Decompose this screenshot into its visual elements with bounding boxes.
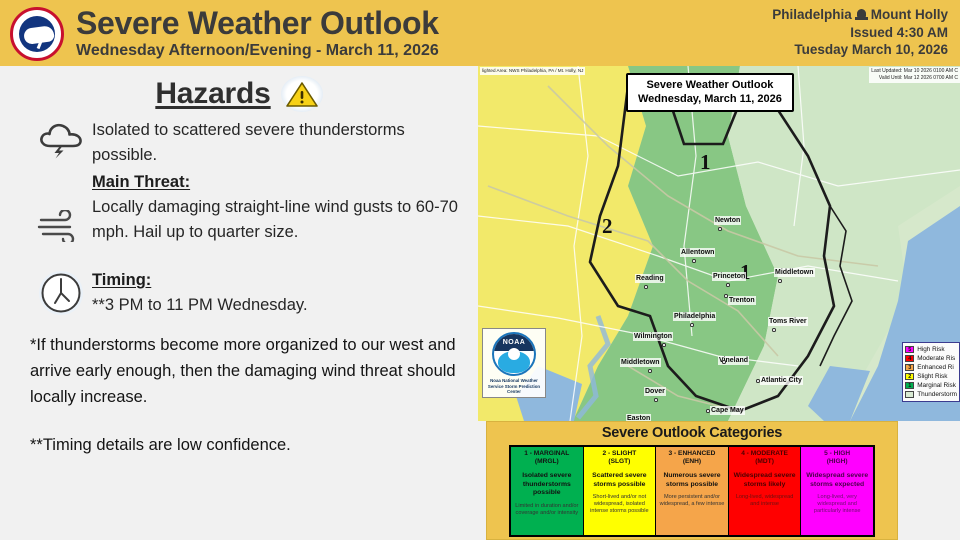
header-titles: Severe Weather Outlook Wednesday Afterno… <box>76 6 439 61</box>
liberty-bell-icon <box>855 8 868 21</box>
legend-row: 4 Moderate Ris <box>905 354 957 363</box>
map-update-info: Last Updated: Mar 10 2026 0100 AM C Vali… <box>869 67 960 83</box>
category-sub-text: More persistent and/or widespread, a few… <box>658 494 726 508</box>
category-head-line2: (ENH) <box>658 458 726 466</box>
footnote-one: *If thunderstorms become more organized … <box>30 332 460 410</box>
legend-label: Thunderstorm <box>917 391 957 398</box>
category-head-line2: (HIGH) <box>803 458 871 466</box>
nws-seal-icon <box>10 7 64 61</box>
category-head-line1: 5 - HIGH <box>803 450 871 458</box>
hazard-item-timing: Timing: **3 PM to 11 PM Wednesday. <box>30 245 478 318</box>
category-head-line2: (MRGL) <box>513 458 581 466</box>
city-dot <box>756 379 760 383</box>
category-moderate: 4 - MODERATE (MDT) Widespread severe sto… <box>729 447 802 535</box>
hazard-item-text: Locally damaging straight-line wind gust… <box>92 195 460 245</box>
category-head-line1: 2 - SLIGHT <box>586 450 654 458</box>
hazard-item-body: Main Threat: Locally damaging straight-l… <box>92 170 478 245</box>
city-dot <box>644 285 648 289</box>
hazard-item-wind: Main Threat: Locally damaging straight-l… <box>30 168 478 245</box>
noaa-caption: Nоaa National Weather Service Storm Pred… <box>483 378 545 395</box>
city-dot <box>724 294 728 298</box>
page-header: Severe Weather Outlook Wednesday Afterno… <box>0 0 960 66</box>
category-enhanced: 3 - ENHANCED (ENH) Numerous severe storm… <box>656 447 729 535</box>
legend-row: 5 High Risk <box>905 345 957 354</box>
city-dot <box>692 259 696 263</box>
hazards-heading: Hazards <box>155 77 270 111</box>
city-dot <box>722 360 726 364</box>
city-label: Allentown <box>680 248 715 257</box>
noaa-seal-icon: NOAA <box>492 332 536 376</box>
city-label: Middletown <box>620 358 661 367</box>
issued-time: Issued 4:30 AM <box>772 24 948 42</box>
legend-label: High Risk <box>917 346 944 353</box>
clock-icon <box>30 269 92 317</box>
category-head-line2: (SLGT) <box>586 458 654 466</box>
city-label: Trenton <box>728 296 756 305</box>
risk-number: 1 <box>700 150 711 175</box>
category-sub-text: Short-lived and/or not widespread, isola… <box>586 494 654 515</box>
legend-label: Marginal Risk <box>917 382 956 389</box>
city-dot <box>662 343 666 347</box>
city-dot <box>778 279 782 283</box>
city-dot <box>648 369 652 373</box>
category-main-text: Numerous severe storms possible <box>658 472 726 489</box>
legend-label: Slight Risk <box>917 373 947 380</box>
page-subtitle: Wednesday Afternoon/Evening - March 11, … <box>76 41 439 61</box>
page-title: Severe Weather Outlook <box>76 6 439 40</box>
city-dot <box>718 227 722 231</box>
hazard-item-label: Main Threat: <box>92 170 460 195</box>
category-sub-text: Long-lived, widespread and intense <box>731 494 799 508</box>
city-label: Toms River <box>768 317 808 326</box>
city-label: Cape May <box>710 406 745 415</box>
map-title-line2: Wednesday, March 11, 2026 <box>638 92 782 106</box>
nws-logo <box>4 3 70 63</box>
hazard-item-label: Timing: <box>92 268 460 293</box>
hazards-panel: Hazards Isolated to scattered severe thu… <box>0 66 478 540</box>
hazard-item-body: Timing: **3 PM to 11 PM Wednesday. <box>92 268 478 318</box>
legend-swatch: 5 <box>905 346 914 354</box>
map-risk-legend: 5 High Risk 4 Moderate Ris 3 Enhanced Ri… <box>902 342 960 402</box>
legend-label: Moderate Ris <box>917 355 955 362</box>
category-high: 5 - HIGH (HIGH) Widespread severe storms… <box>801 447 873 535</box>
legend-swatch: 4 <box>905 355 914 363</box>
hazard-item-thunderstorms: Isolated to scattered severe thunderstor… <box>30 112 478 168</box>
noaa-wordmark: NOAA <box>494 339 534 346</box>
map-graphic <box>478 66 960 421</box>
thunderstorm-cloud-icon <box>30 118 92 160</box>
map-valid-until: Valid Until: Mar 12 2026 0700 AM C <box>871 75 958 82</box>
map-title-line1: Severe Weather Outlook <box>638 78 782 92</box>
city-dot <box>706 409 710 413</box>
city-label: Philadelphia <box>673 312 716 321</box>
hazard-item-body: Isolated to scattered severe thunderstor… <box>92 118 478 168</box>
legend-row: 2 Slight Risk <box>905 372 957 381</box>
city-dot <box>690 323 694 327</box>
city-label: Atlantic City <box>760 376 803 385</box>
legend-row: 1 Marginal Risk <box>905 381 957 390</box>
hazards-heading-row: Hazards <box>0 76 478 112</box>
city-label: Dover <box>644 387 666 396</box>
risk-number: 2 <box>602 214 613 239</box>
city-dot <box>772 328 776 332</box>
map-last-updated: Last Updated: Mar 10 2026 0100 AM C <box>871 68 958 75</box>
city-label: Princeton <box>712 272 746 281</box>
noaa-spc-logo-box: NOAA Nоaa National Weather Service Storm… <box>482 328 546 398</box>
office-city-left: Philadelphia <box>772 7 852 22</box>
office-city-right: Mount Holly <box>871 7 948 22</box>
legend-row: 3 Enhanced Ri <box>905 363 957 372</box>
category-slight: 2 - SLIGHT (SLGT) Scattered severe storm… <box>584 447 657 535</box>
issued-date: Tuesday March 10, 2026 <box>772 41 948 59</box>
city-dot <box>726 283 730 287</box>
legend-row: Thunderstorm <box>905 390 957 399</box>
city-dot <box>654 398 658 402</box>
category-sub-text: Limited in duration and/or coverage and/… <box>513 503 581 517</box>
map-attribution: lighted Area: NWS Philadelphia, PA / Mt.… <box>480 67 585 75</box>
legend-swatch <box>905 391 914 399</box>
outlook-map[interactable]: lighted Area: NWS Philadelphia, PA / Mt.… <box>478 66 960 421</box>
map-title-box: Severe Weather Outlook Wednesday, March … <box>626 73 794 112</box>
legend-swatch: 2 <box>905 373 914 381</box>
city-label: Middletown <box>774 268 815 277</box>
category-main-text: Scattered severe storms possible <box>586 472 654 489</box>
office-info: PhiladelphiaMount Holly Issued 4:30 AM T… <box>772 6 948 59</box>
legend-swatch: 1 <box>905 382 914 390</box>
category-head-line1: 4 - MODERATE <box>731 450 799 458</box>
city-label: Wilmington <box>633 332 673 341</box>
category-head-line1: 3 - ENHANCED <box>658 450 726 458</box>
category-head-line2: (MDT) <box>731 458 799 466</box>
outlook-categories-panel: Severe Outlook Categories 1 - MARGINAL (… <box>486 421 898 540</box>
wind-icon <box>30 194 92 242</box>
category-head-line1: 1 - MARGINAL <box>513 450 581 458</box>
category-marginal: 1 - MARGINAL (MRGL) Isolated severe thun… <box>511 447 584 535</box>
category-sub-text: Long-lived, very widespread and particul… <box>803 494 871 515</box>
footnote-two: **Timing details are low confidence. <box>30 432 460 458</box>
categories-grid: 1 - MARGINAL (MRGL) Isolated severe thun… <box>509 445 875 537</box>
city-label: Reading <box>635 274 665 283</box>
legend-label: Enhanced Ri <box>917 364 954 371</box>
category-main-text: Widespread severe storms expected <box>803 472 871 489</box>
hazard-item-text: **3 PM to 11 PM Wednesday. <box>92 293 460 318</box>
category-main-text: Widespread severe storms likely <box>731 472 799 489</box>
city-label: Easton <box>626 414 651 421</box>
city-label: Newton <box>714 216 741 225</box>
category-main-text: Isolated severe thunderstorms possible <box>513 472 581 498</box>
categories-title: Severe Outlook Categories <box>487 422 897 445</box>
legend-swatch: 3 <box>905 364 914 372</box>
warning-triangle-icon <box>281 76 323 112</box>
hazard-item-text: Isolated to scattered severe thunderstor… <box>92 118 460 168</box>
office-line: PhiladelphiaMount Holly <box>772 6 948 24</box>
